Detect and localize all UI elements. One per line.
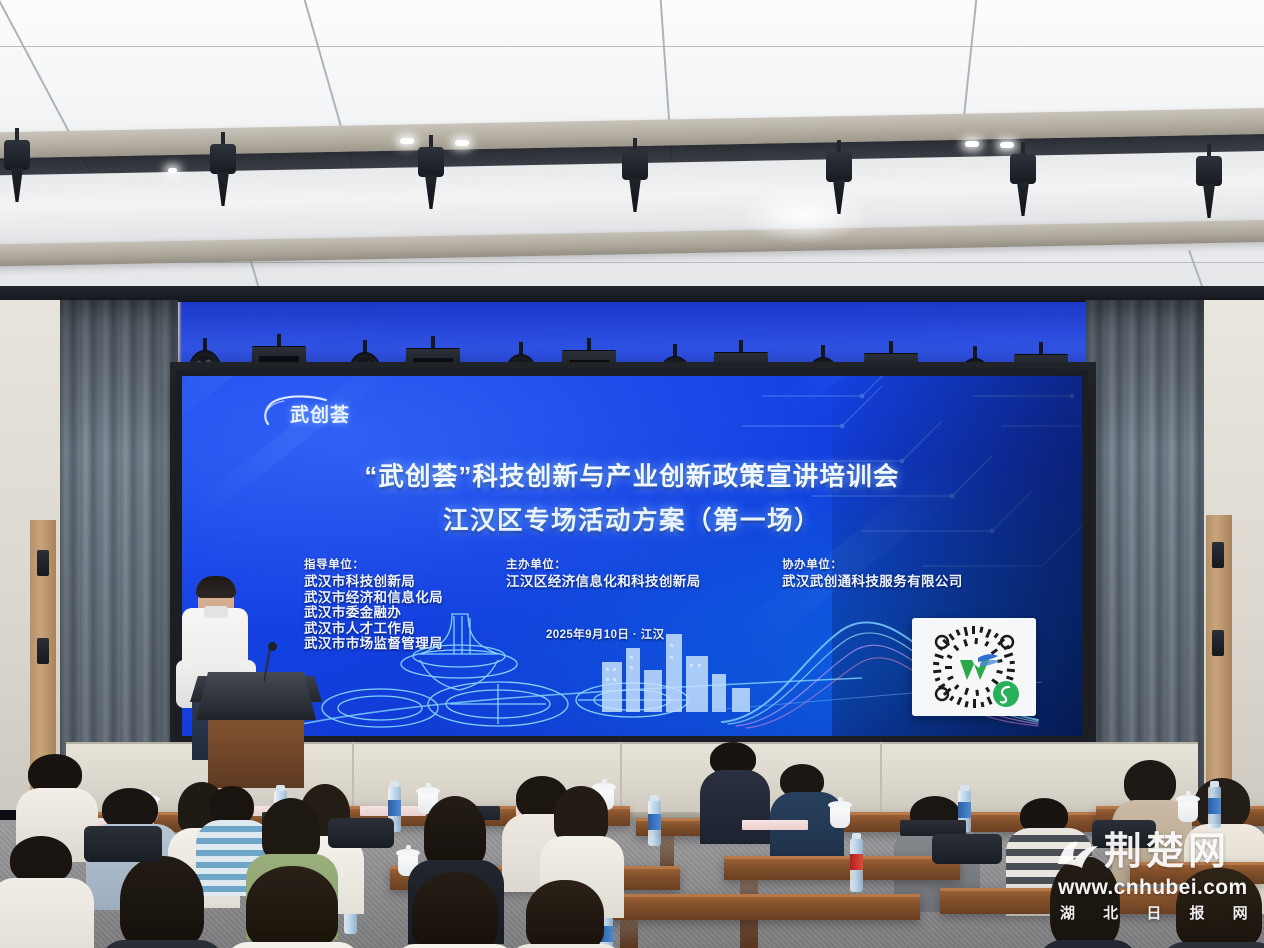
guidance-units-heading: 指导单位：	[304, 556, 443, 572]
podium-front	[196, 672, 316, 720]
host-units-heading: 主办单位：	[506, 556, 701, 572]
wuchuanghui-logo: 武创荟	[260, 394, 370, 434]
logo-label: 武创荟	[290, 400, 350, 427]
audience-desk	[724, 856, 960, 880]
stage-curtain-right	[1086, 300, 1204, 800]
microphone-capsule	[268, 642, 277, 651]
left-side-wall	[0, 300, 66, 810]
ceiling-spotlight	[622, 138, 648, 212]
chair	[84, 826, 162, 862]
wall-speaker-box	[1212, 542, 1224, 568]
chair	[932, 834, 1002, 864]
audience-desk	[600, 894, 920, 920]
guidance-unit-item: 武汉市经济和信息化局	[304, 590, 443, 606]
speaker-collar	[204, 606, 228, 618]
screen-title-line-1: “武创荟”科技创新与产业创新政策宣讲培训会	[182, 456, 1082, 493]
co-organizer-column: 协办单位： 武汉武创通科技服务有限公司	[782, 556, 963, 590]
handout-paper	[742, 820, 808, 830]
wechat-qr-code[interactable]	[912, 618, 1036, 716]
ceiling-spotlight	[1196, 144, 1222, 218]
ceiling-spotlight	[1010, 142, 1036, 216]
water-bottle	[850, 838, 863, 892]
chair	[328, 818, 394, 848]
ceiling-spotlight	[418, 135, 444, 209]
wall-speaker-box	[37, 638, 49, 664]
right-side-wall	[1198, 300, 1264, 810]
chair	[1092, 820, 1156, 848]
ceiling-spotlight	[826, 140, 852, 214]
ceiling-spotlight	[4, 128, 30, 202]
wall-speaker-box	[37, 550, 49, 576]
co-organizer-item: 武汉武创通科技服务有限公司	[782, 574, 963, 590]
stage-curtain-left	[60, 300, 178, 800]
guidance-unit-item: 武汉市科技创新局	[304, 574, 443, 590]
host-unit-item: 江汉区经济信息化和科技创新局	[506, 574, 701, 590]
water-bottle	[1208, 786, 1221, 828]
photo-scene: 武创荟 “武创荟”科技创新与产业创新政策宣讲培训会 江汉区专场活动方案（第一场）…	[0, 0, 1264, 948]
tea-cup	[1178, 800, 1198, 822]
wall-speaker-box	[1212, 630, 1224, 656]
tea-cup	[830, 806, 850, 828]
ceiling-spotlight	[210, 132, 236, 206]
speaker-hair	[196, 576, 236, 598]
co-organizer-heading: 协办单位：	[782, 556, 963, 572]
stage-truss-beam	[0, 286, 1264, 302]
water-bottle	[648, 800, 661, 846]
screen-title-line-2: 江汉区专场活动方案（第一场）	[182, 500, 1082, 537]
host-units-column: 主办单位： 江汉区经济信息化和科技创新局	[506, 556, 701, 590]
